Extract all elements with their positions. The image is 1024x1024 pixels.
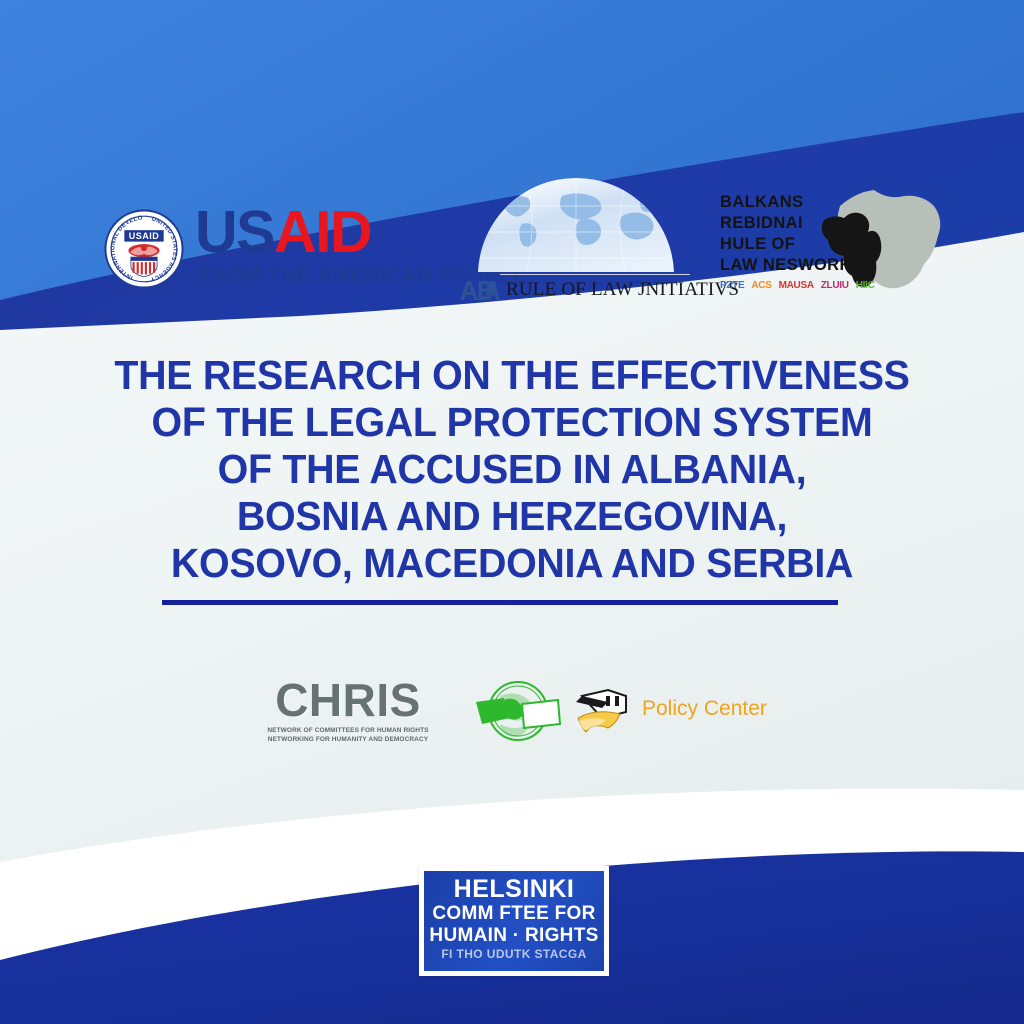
handshake-seal-icon <box>470 680 566 742</box>
helsinki-line-4: FI THO UDUTK STACGA <box>428 947 600 962</box>
usaid-logo: UNITED STATES AGENCY INTERNATIONAL DEVEL… <box>103 200 443 300</box>
chris-logo: CHRIS NETWORK OF COMMITTEES FOR HUMAN RI… <box>258 676 438 744</box>
chris-acronym: CHRIS <box>258 676 438 724</box>
balkans-name-line-3: HULE OF <box>720 234 860 255</box>
aba-nameplate: RULE OF LAW JNITIATIVS <box>458 276 688 304</box>
usaid-seal-icon: UNITED STATES AGENCY INTERNATIONAL DEVEL… <box>103 208 185 290</box>
title-line-5: KOSOVO, MACEDONIA AND SERBIA <box>20 540 1003 587</box>
title-line-3: OF THE ACCUSED IN ALBANIA, <box>20 446 1003 493</box>
aba-rule-of-law-logo: RULE OF LAW JNITIATIVS <box>458 176 688 306</box>
helsinki-logo-plate: HELSINKI COMM FTEE FOR HUMAIN · RIGHTS F… <box>424 871 604 971</box>
helsinki-committee-logo: HELSINKI COMM FTEE FOR HUMAIN · RIGHTS F… <box>419 866 609 976</box>
aba-monogram-icon <box>458 279 500 301</box>
balkans-name-line-1: BALKANS <box>720 192 860 213</box>
chris-subtitle-line-1: NETWORK OF COMMITTEES FOR HUMAN RIGHTS <box>258 726 438 735</box>
chris-subtitle-line-2: NETWORKING FOR HUMANITY AND DEMOCRACY <box>258 735 438 744</box>
page-title: THE RESEARCH ON THE EFFECTIVENESS OF THE… <box>0 352 1024 587</box>
usaid-wordmark: USAID <box>195 200 371 264</box>
helsinki-line-3: HUMAIN · RIGHTS <box>428 925 600 947</box>
usaid-wordmark-us: US <box>195 199 274 265</box>
partner-acronym: PZTE <box>720 280 744 291</box>
balkans-network-name: BALKANS REBIDNAI HULE OF LAW NESWORK <box>720 192 860 276</box>
helsinki-line-2: COMM FTEE FOR <box>428 903 600 925</box>
partner-acronym: HIIC <box>856 280 875 291</box>
partner-acronym: MAUSA <box>779 280 814 291</box>
balkans-partner-acronyms: PZTE ACS MAUSA ZLUIU HIIC <box>720 280 875 291</box>
usaid-wordmark-aid: AID <box>274 199 371 265</box>
chris-subtitle: NETWORK OF COMMITTEES FOR HUMAN RIGHTS N… <box>258 726 438 744</box>
donor-logo-row: UNITED STATES AGENCY INTERNATIONAL DEVEL… <box>0 168 1024 313</box>
policy-center-icon <box>572 684 634 734</box>
balkans-network-logo: BALKANS REBIDNAI HULE OF LAW NESWORK PZT… <box>706 180 956 308</box>
policy-center-logo: Policy Center <box>572 680 767 738</box>
report-cover-page: UNITED STATES AGENCY INTERNATIONAL DEVEL… <box>0 0 1024 1024</box>
aba-divider-rule <box>500 274 690 275</box>
partner-acronym: ZLUIU <box>821 280 849 291</box>
title-divider <box>162 600 838 605</box>
balkans-name-line-4: LAW NESWORK <box>720 255 860 276</box>
svg-text:USAID: USAID <box>129 231 159 241</box>
partner-logo-row: CHRIS NETWORK OF COMMITTEES FOR HUMAN RI… <box>0 668 1024 758</box>
balkans-name-line-2: REBIDNAI <box>720 213 860 234</box>
globe-icon <box>476 176 676 272</box>
title-line-2: OF THE LEGAL PROTECTION SYSTEM <box>20 399 1003 446</box>
title-line-4: BOSNIA AND HERZEGOVINA, <box>20 493 1003 540</box>
title-line-1: THE RESEARCH ON THE EFFECTIVENESS <box>20 352 1003 399</box>
partner-acronym: ACS <box>751 280 771 291</box>
policy-center-label: Policy Center <box>642 697 767 721</box>
aba-name: RULE OF LAW JNITIATIVS <box>506 279 739 301</box>
helsinki-line-1: HELSINKI <box>428 876 600 903</box>
